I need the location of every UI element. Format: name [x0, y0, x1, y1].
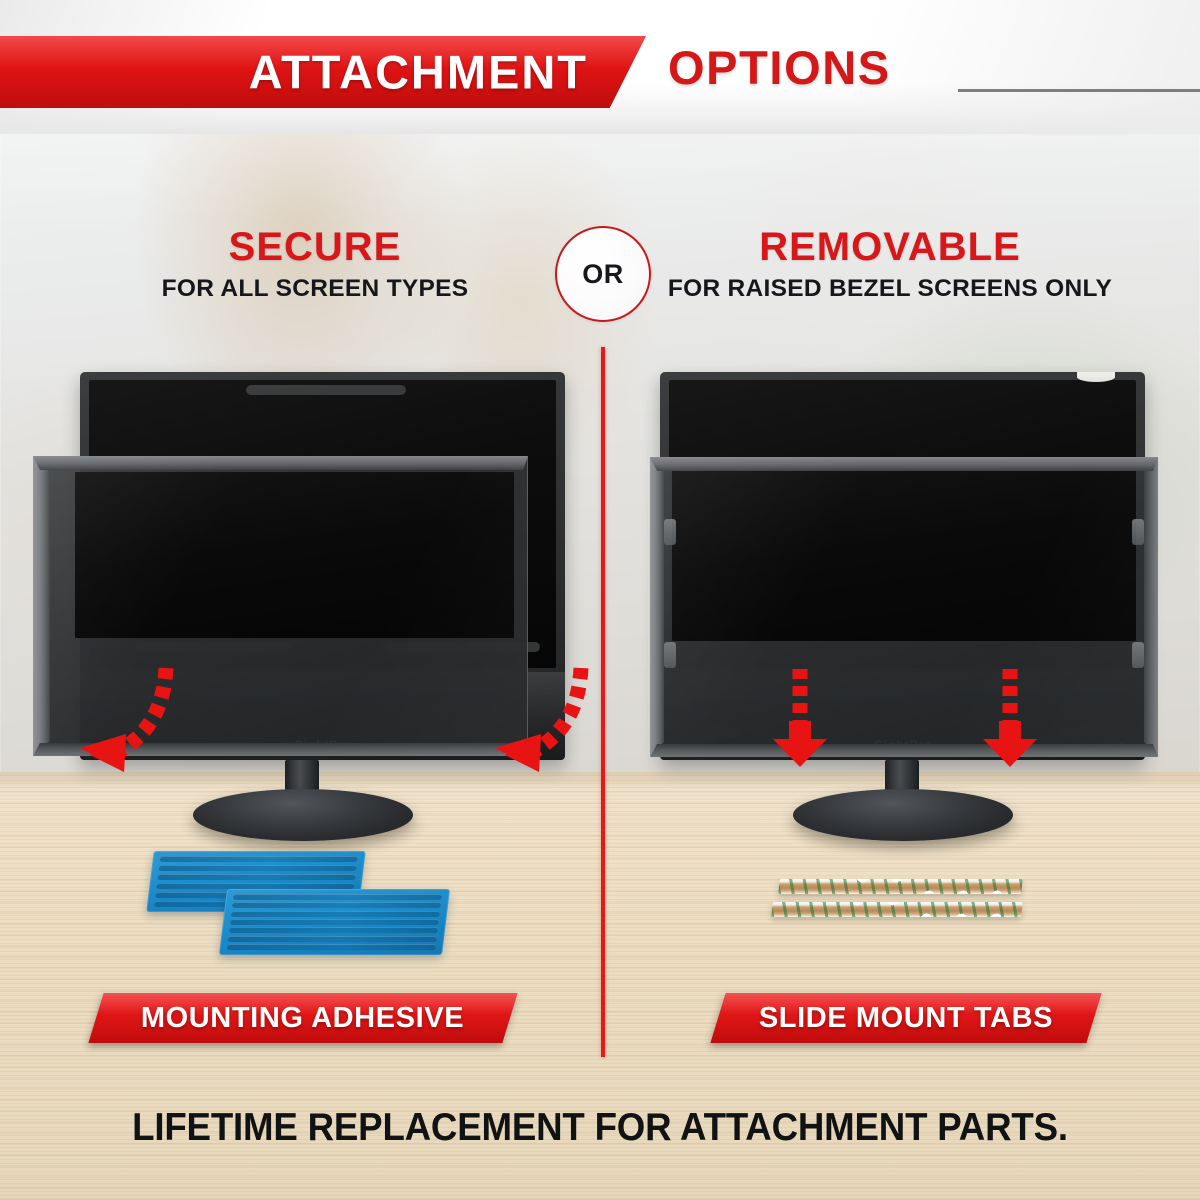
adhesive-strip: [233, 894, 443, 900]
adhesive-strip: [157, 874, 356, 880]
left-part-label: MOUNTING ADHESIVE: [141, 1002, 464, 1035]
adhesive-strip: [232, 902, 442, 908]
header-options-label: OPTIONS: [668, 40, 891, 95]
slide-mount-tab-upper: [778, 879, 1023, 894]
right-filter-tab-upper-right: [1132, 519, 1144, 545]
right-filter-tab-lower-right: [1132, 642, 1144, 668]
left-column-title: SECURE: [55, 227, 575, 268]
adhesive-strip: [158, 865, 357, 871]
right-monitor-base: [793, 789, 1013, 841]
mounting-adhesive-sheet-front: [219, 889, 450, 955]
right-filter-tab-lower-left: [664, 642, 676, 668]
left-part-label-banner: MOUNTING ADHESIVE: [88, 993, 517, 1043]
right-filter-bevel-bottom: [650, 744, 1158, 757]
right-column-heading: REMOVABLE FOR RAISED BEZEL SCREENS ONLY: [630, 227, 1150, 302]
right-privacy-filter-panel: [650, 457, 1158, 757]
right-part-label-banner: SLIDE MOUNT TABS: [710, 993, 1101, 1043]
right-column-title: REMOVABLE: [630, 227, 1150, 268]
right-filter-top-notch: [1077, 372, 1115, 382]
right-filter-bevel-top: [650, 457, 1158, 471]
right-filter-glass: [672, 469, 1136, 641]
left-filter-bevel-top: [33, 456, 528, 470]
adhesive-strip: [159, 856, 358, 862]
infographic-stage: ATTACHMENT OPTIONS SECURE FOR ALL SCREEN…: [0, 0, 1200, 1200]
left-filter-glass: [75, 472, 514, 638]
slide-mount-tab-lower: [771, 902, 1023, 917]
adhesive-strip: [231, 911, 441, 917]
right-filter-bevel-right: [1144, 457, 1158, 757]
header-red-banner: ATTACHMENT: [0, 36, 646, 108]
right-part-label: SLIDE MOUNT TABS: [759, 1002, 1053, 1035]
right-column-subtitle: FOR RAISED BEZEL SCREENS ONLY: [630, 276, 1150, 302]
left-monitor-speaker-grill: [246, 385, 406, 395]
left-arrow-inner-icon: [465, 660, 605, 790]
header-band: ATTACHMENT OPTIONS: [0, 0, 1200, 134]
adhesive-strip: [228, 936, 438, 942]
right-filter-tab-upper-left: [664, 519, 676, 545]
left-arrow-outer-icon: [60, 660, 200, 790]
left-column-heading: SECURE FOR ALL SCREEN TYPES: [55, 227, 575, 302]
right-filter-bevel-left: [650, 457, 664, 757]
adhesive-strip: [227, 944, 437, 950]
left-column-subtitle: FOR ALL SCREEN TYPES: [55, 276, 575, 302]
adhesive-strip: [230, 919, 440, 925]
left-filter-bevel-left: [33, 456, 50, 756]
right-arrow-right-icon: [975, 665, 1045, 770]
right-arrow-left-icon: [765, 665, 835, 770]
header-rule-line: [958, 89, 1200, 92]
left-monitor-base: [193, 789, 413, 841]
or-badge-label: OR: [582, 259, 624, 290]
header-attachment-label: ATTACHMENT: [249, 45, 588, 100]
adhesive-strip: [229, 927, 439, 933]
footer-text: LIFETIME REPLACEMENT FOR ATTACHMENT PART…: [36, 1106, 1164, 1150]
